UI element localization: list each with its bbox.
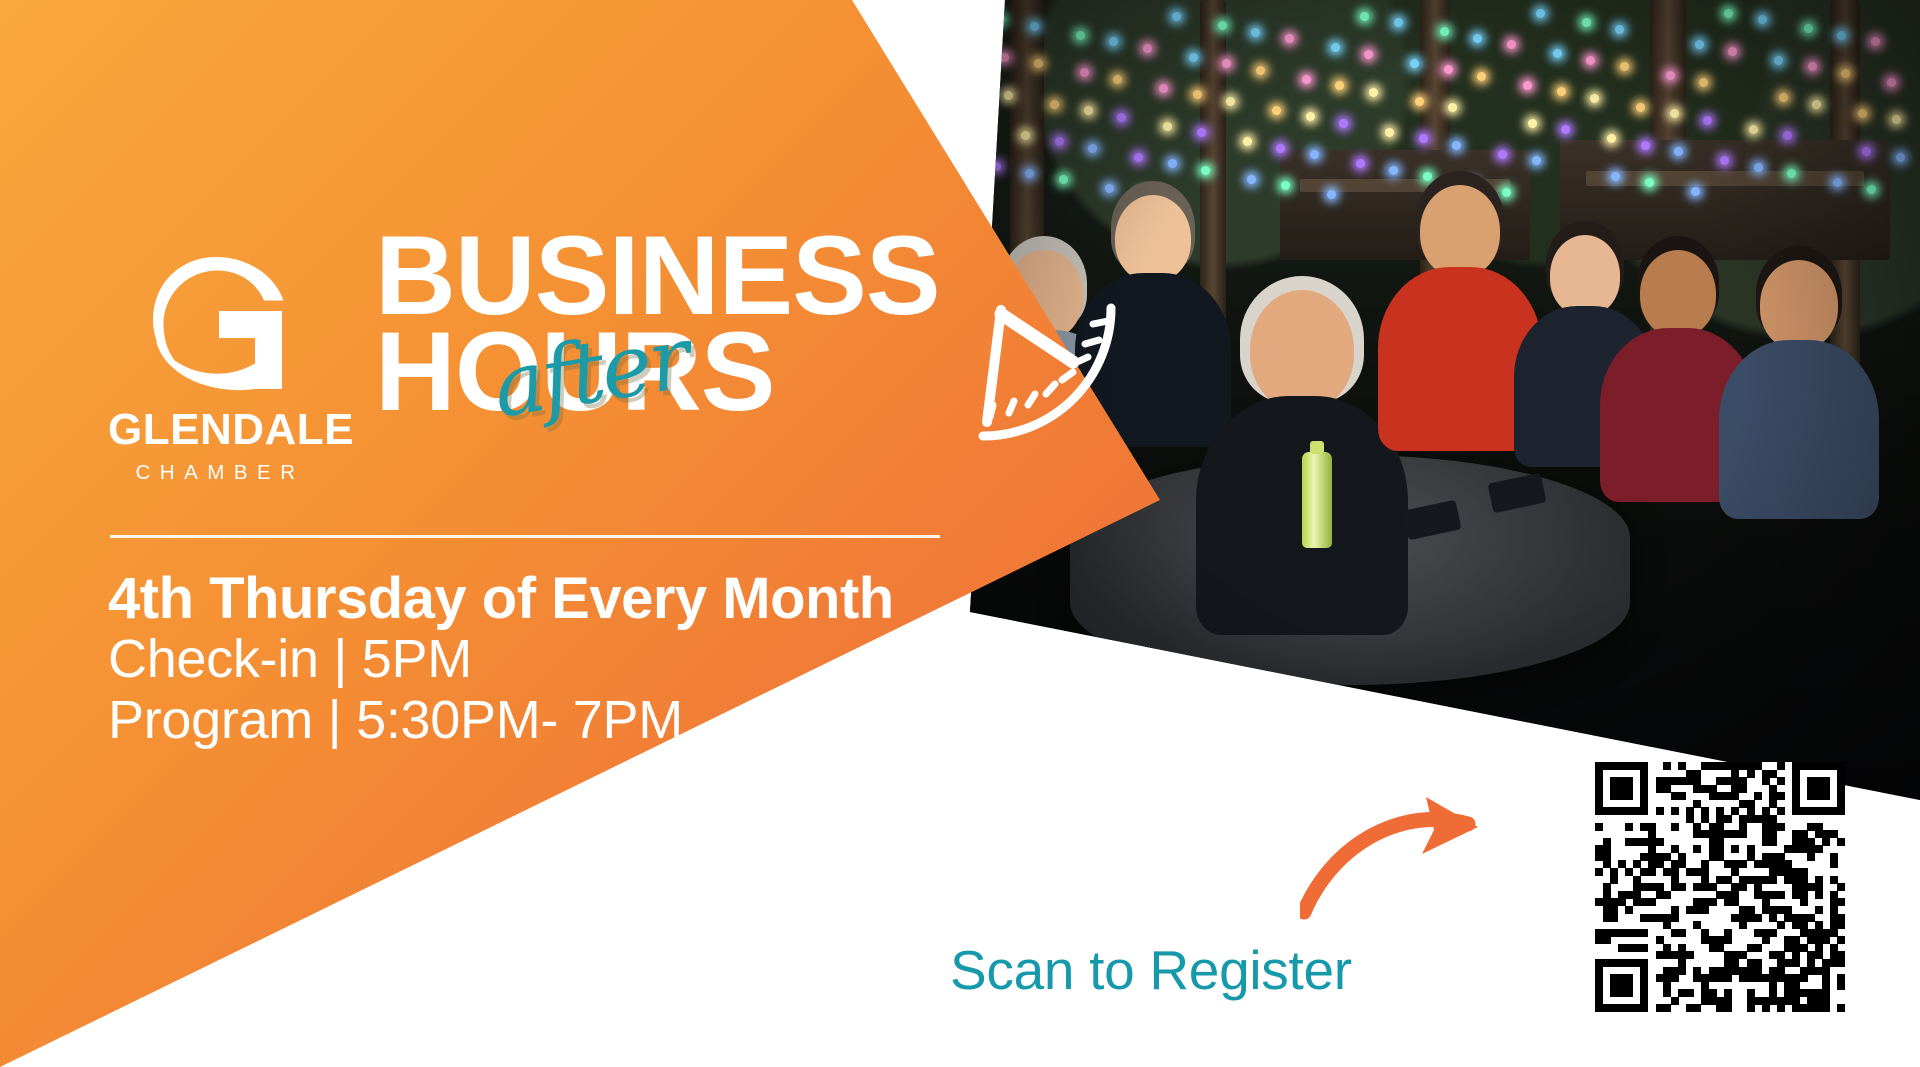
glendale-chamber-g-icon: [141, 248, 291, 398]
logo-name: GLENDALE: [108, 408, 323, 452]
event-frequency: 4th Thursday of Every Month: [108, 568, 1058, 629]
quarter-clock-icon: [965, 288, 1140, 448]
event-checkin-time: Check-in | 5PM: [108, 629, 1058, 689]
event-details: 4th Thursday of Every Month Check-in | 5…: [108, 568, 1058, 750]
scan-to-register-label: Scan to Register: [950, 938, 1352, 1002]
event-program-time: Program | 5:30PM- 7PM: [108, 690, 1058, 750]
logo-subtitle: CHAMBER: [108, 461, 323, 485]
section-divider: [110, 535, 940, 538]
qr-code[interactable]: [1595, 762, 1845, 1012]
headline-block: BUSINESS HOURS after: [375, 228, 995, 421]
curved-arrow-right-icon: [1300, 790, 1520, 920]
brand-logo: GLENDALE CHAMBER: [108, 248, 323, 485]
flyer-canvas: GLENDALE CHAMBER BUSINESS HOURS after: [0, 0, 1920, 1067]
